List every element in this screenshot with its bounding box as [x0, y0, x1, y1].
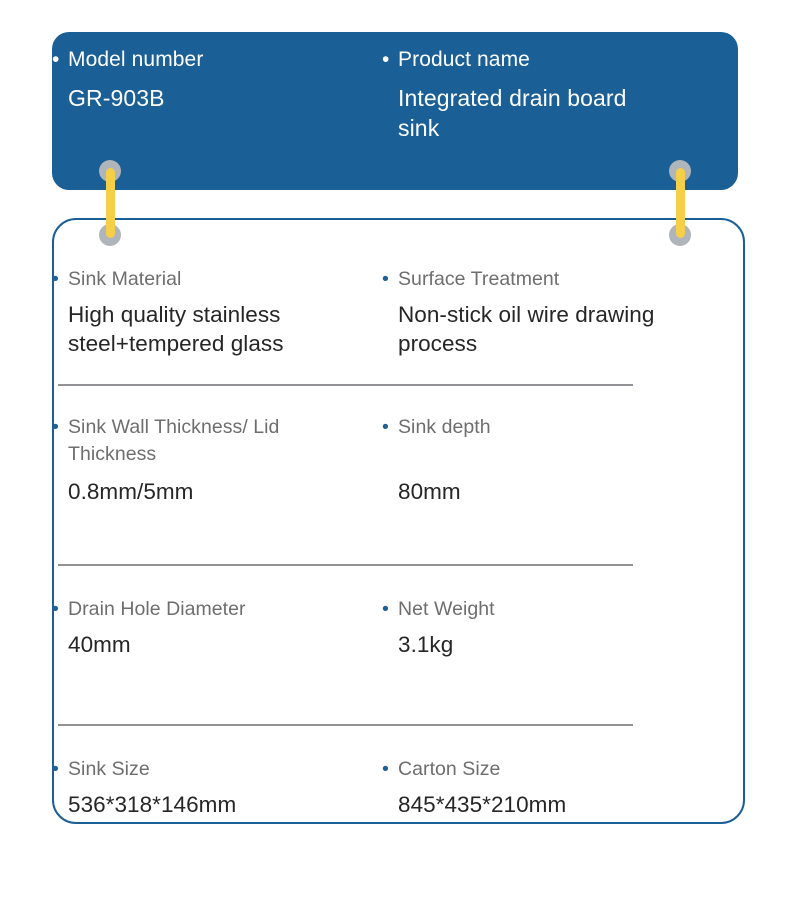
bullet-icon: • [382, 756, 398, 783]
spec-item-label: Drain Hole Diameter [68, 596, 246, 623]
bullet-icon: • [52, 46, 68, 74]
spec-item-value: 536*318*146mm [68, 790, 348, 819]
spec-item-label: Sink Material [68, 266, 181, 293]
spec-item-value: 845*435*210mm [398, 790, 678, 819]
bullet-icon: • [382, 266, 398, 293]
spec-item-sink-depth: • Sink depth 80mm [382, 414, 682, 564]
spec-label-row: • Drain Hole Diameter [52, 596, 382, 623]
pin-left-icon [96, 160, 124, 246]
spec-item-label: Carton Size [398, 756, 500, 783]
pin-stem [106, 168, 115, 238]
spec-item-value: High quality stainless steel+tempered gl… [68, 300, 348, 358]
spec-row: • Drain Hole Diameter 40mm • Net Weight … [52, 566, 692, 724]
header-item-value: Integrated drain board sink [398, 83, 652, 143]
spec-item-sink-size: • Sink Size 536*318*146mm [52, 756, 382, 866]
spec-label-row: • Carton Size [382, 756, 682, 783]
bullet-icon: • [382, 46, 398, 74]
spec-item-label: Sink Size [68, 756, 150, 783]
header-item-model-number: • Model number GR-903B [52, 46, 382, 143]
pin-right-icon [666, 160, 694, 246]
spec-item-label: Sink Wall Thickness/ Lid Thickness [68, 414, 340, 468]
spec-row: • Sink Material High quality stainless s… [52, 266, 692, 384]
header-item-value: GR-903B [68, 83, 382, 113]
bullet-icon: • [52, 266, 68, 293]
header-label-row: • Model number [52, 46, 382, 74]
bullet-icon: • [52, 596, 68, 623]
header-label-row: • Product name [382, 46, 652, 74]
spec-item-value: 80mm [398, 477, 678, 506]
spec-item-drain-hole-diameter: • Drain Hole Diameter 40mm [52, 596, 382, 724]
spec-item-net-weight: • Net Weight 3.1kg [382, 596, 682, 724]
spec-item-sink-wall-thickness: • Sink Wall Thickness/ Lid Thickness 0.8… [52, 414, 382, 564]
spec-label-row: • Sink depth [382, 414, 682, 441]
spec-label-row: • Sink Wall Thickness/ Lid Thickness [52, 414, 382, 468]
spec-item-label: Net Weight [398, 596, 495, 623]
spec-item-value: 0.8mm/5mm [68, 477, 348, 506]
spec-row: • Sink Wall Thickness/ Lid Thickness 0.8… [52, 386, 692, 564]
header-spec-grid: • Model number GR-903B • Product name In… [52, 46, 652, 143]
spec-item-label: Sink depth [398, 414, 491, 441]
header-item-product-name: • Product name Integrated drain board si… [382, 46, 652, 143]
spec-rows: • Sink Material High quality stainless s… [52, 266, 692, 866]
spec-item-surface-treatment: • Surface Treatment Non-stick oil wire d… [382, 266, 682, 384]
spec-label-row: • Sink Material [52, 266, 382, 293]
spec-item-value: 40mm [68, 630, 348, 659]
spec-label-row: • Sink Size [52, 756, 382, 783]
bullet-icon: • [52, 756, 68, 783]
spec-item-value: 3.1kg [398, 630, 678, 659]
header-item-label: Model number [68, 46, 203, 74]
spec-row: • Sink Size 536*318*146mm • Carton Size … [52, 726, 692, 866]
spec-item-sink-material: • Sink Material High quality stainless s… [52, 266, 382, 384]
pin-stem [676, 168, 685, 238]
spec-item-carton-size: • Carton Size 845*435*210mm [382, 756, 682, 866]
spec-label-row: • Net Weight [382, 596, 682, 623]
spec-item-label: Surface Treatment [398, 266, 559, 293]
product-specification-sheet: • Model number GR-903B • Product name In… [0, 0, 790, 917]
bullet-icon: • [382, 414, 398, 441]
spec-item-value: Non-stick oil wire drawing process [398, 300, 678, 358]
spec-label-row: • Surface Treatment [382, 266, 682, 293]
header-item-label: Product name [398, 46, 530, 74]
bullet-icon: • [382, 596, 398, 623]
bullet-icon: • [52, 414, 68, 441]
